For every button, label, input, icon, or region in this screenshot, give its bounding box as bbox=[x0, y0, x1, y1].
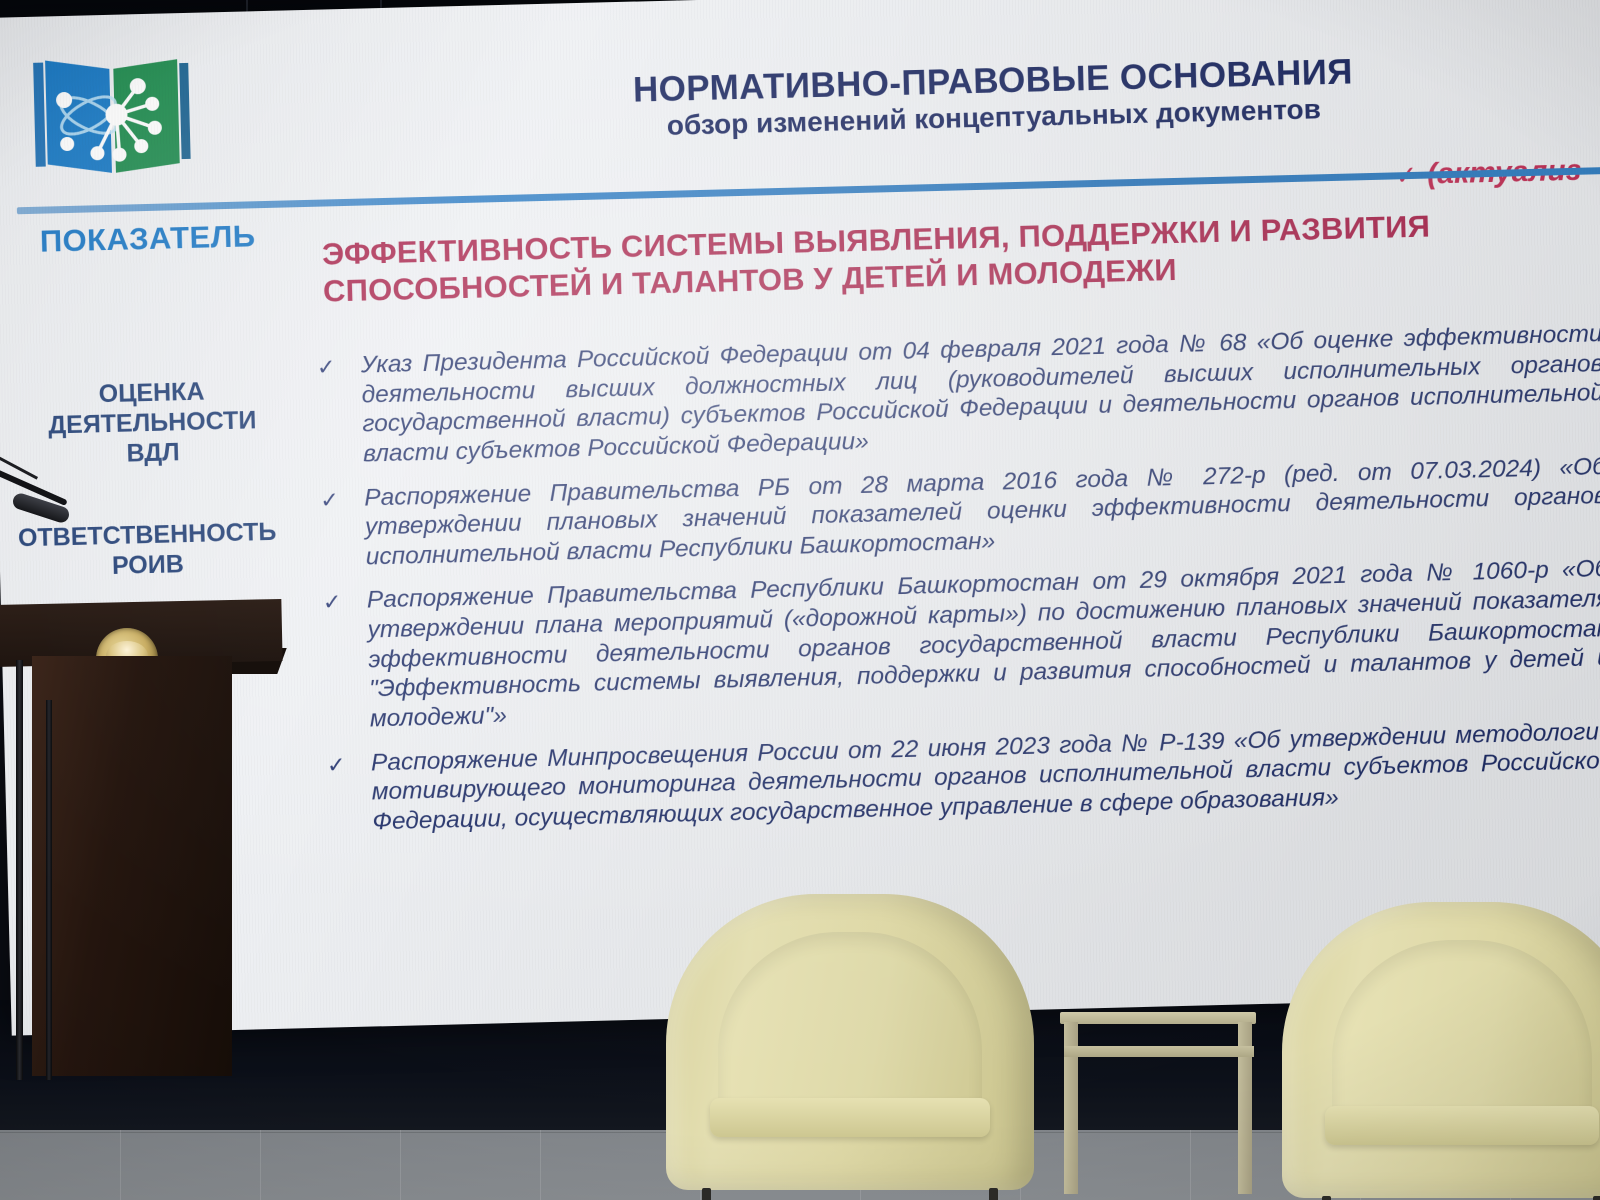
chair-leg bbox=[1322, 1196, 1331, 1200]
chair-cushion bbox=[710, 1098, 990, 1136]
list-item: ✓ Распоряжение Минпросвещения России от … bbox=[323, 717, 1600, 839]
armchair-left bbox=[666, 894, 1034, 1190]
open-book-atom-logo bbox=[31, 41, 194, 185]
label-otvetstvennost-roiv: ОТВЕТСТВЕННОСТЬ РОИВ bbox=[0, 516, 312, 584]
list-item-text: Распоряжение Правительства РБ от 28 март… bbox=[364, 452, 1600, 572]
list-item-text: Указ Президента Российской Федерации от … bbox=[361, 319, 1600, 469]
label-ocenka-vdl: ОЦЕНКА ДЕЯТЕЛЬНОСТИ ВДЛ bbox=[0, 374, 309, 472]
check-icon: ✓ bbox=[323, 592, 342, 614]
chair-leg bbox=[702, 1188, 711, 1200]
list-item: ✓ Указ Президента Российской Федерации о… bbox=[313, 319, 1600, 470]
list-item-text: Распоряжение Правительства Республики Ба… bbox=[366, 555, 1600, 735]
check-icon: ✓ bbox=[317, 356, 336, 378]
microphone-stand bbox=[16, 660, 23, 1080]
table-rail bbox=[1064, 1046, 1254, 1057]
table-top bbox=[1060, 1012, 1256, 1024]
header-divider bbox=[17, 167, 1600, 214]
microphone-stand bbox=[46, 700, 52, 1080]
list-item: ✓ Распоряжение Правительства Республики … bbox=[319, 555, 1600, 736]
projection-screen: НОРМАТИВНО-ПРАВОВЫЕ ОСНОВАНИЯ обзор изме… bbox=[0, 0, 1600, 1038]
main-title: ЭФФЕКТИВНОСТЬ СИСТЕМЫ ВЫЯВЛЕНИЯ, ПОДДЕРЖ… bbox=[322, 203, 1593, 309]
side-table bbox=[1060, 1012, 1256, 1194]
chair-cushion bbox=[1325, 1106, 1599, 1144]
list-item-text: Распоряжение Минпросвещения России от 22… bbox=[371, 717, 1600, 837]
chair-leg bbox=[989, 1188, 998, 1200]
check-icon: ✓ bbox=[327, 754, 346, 776]
chair-leg bbox=[1593, 1196, 1600, 1200]
bullet-list: ✓ Указ Президента Российской Федерации о… bbox=[313, 319, 1600, 852]
slide-header: НОРМАТИВНО-ПРАВОВЫЕ ОСНОВАНИЯ обзор изме… bbox=[598, 53, 1390, 143]
armchair-right bbox=[1282, 902, 1600, 1198]
photo-scene: НОРМАТИВНО-ПРАВОВЫЕ ОСНОВАНИЯ обзор изме… bbox=[0, 0, 1600, 1200]
presentation-slide: НОРМАТИВНО-ПРАВОВЫЕ ОСНОВАНИЯ обзор изме… bbox=[0, 0, 1600, 1036]
check-icon: ✓ bbox=[320, 489, 339, 511]
list-item: ✓ Распоряжение Правительства РБ от 28 ма… bbox=[316, 452, 1600, 574]
left-column: ПОКАЗАТЕЛЬ ОЦЕНКА ДЕЯТЕЛЬНОСТИ ВДЛ ОТВЕТ… bbox=[0, 218, 312, 584]
label-pokazatel: ПОКАЗАТЕЛЬ bbox=[0, 218, 304, 260]
speaker-podium bbox=[32, 656, 232, 1076]
